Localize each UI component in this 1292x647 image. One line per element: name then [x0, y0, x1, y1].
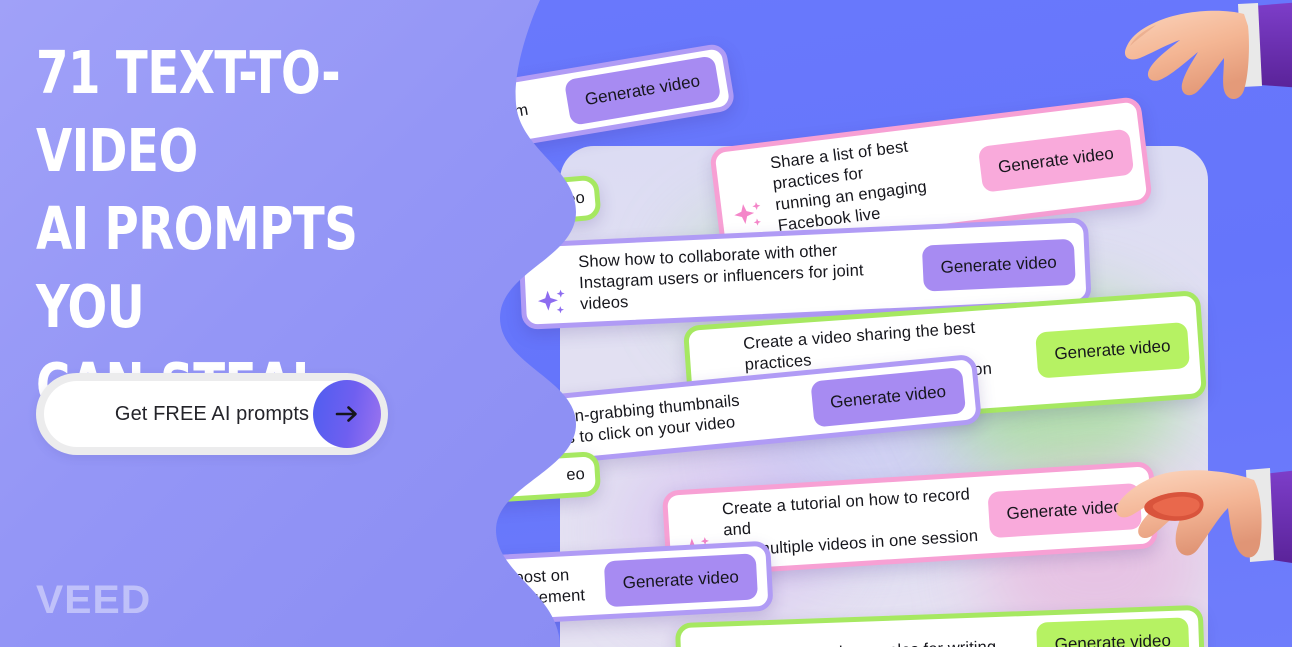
generate-video-button[interactable]: Generate video	[922, 238, 1076, 291]
cta-button[interactable]: Get FREE AI prompts	[36, 373, 388, 455]
sparkle-icon	[691, 640, 726, 647]
generate-video-button[interactable]: Generate video	[1035, 322, 1190, 379]
pointing-hand-icon	[1052, 0, 1292, 172]
generate-video-button[interactable]: Generate video	[604, 553, 758, 607]
generate-video-button[interactable]: Generate video	[1036, 617, 1190, 647]
prompt-text: Share tips and examples for writing	[735, 635, 1027, 647]
arrow-right-icon[interactable]	[313, 380, 381, 448]
prompt-text: Share a list of best practices for runni…	[769, 129, 976, 236]
cta-label: Get FREE AI prompts	[115, 403, 309, 426]
pinching-hand-icon	[1088, 436, 1292, 606]
sparkle-icon	[728, 180, 766, 218]
veed-logo: VEED	[36, 578, 151, 623]
prompt-text: Show how to collaborate with other Insta…	[578, 237, 914, 315]
promo-banner: m Generate video Share a list of best pr…	[0, 0, 1292, 647]
page-title: 71 Text-to-video AI prompts you can stea…	[36, 34, 423, 424]
generate-video-button[interactable]: Generate video	[810, 367, 966, 427]
